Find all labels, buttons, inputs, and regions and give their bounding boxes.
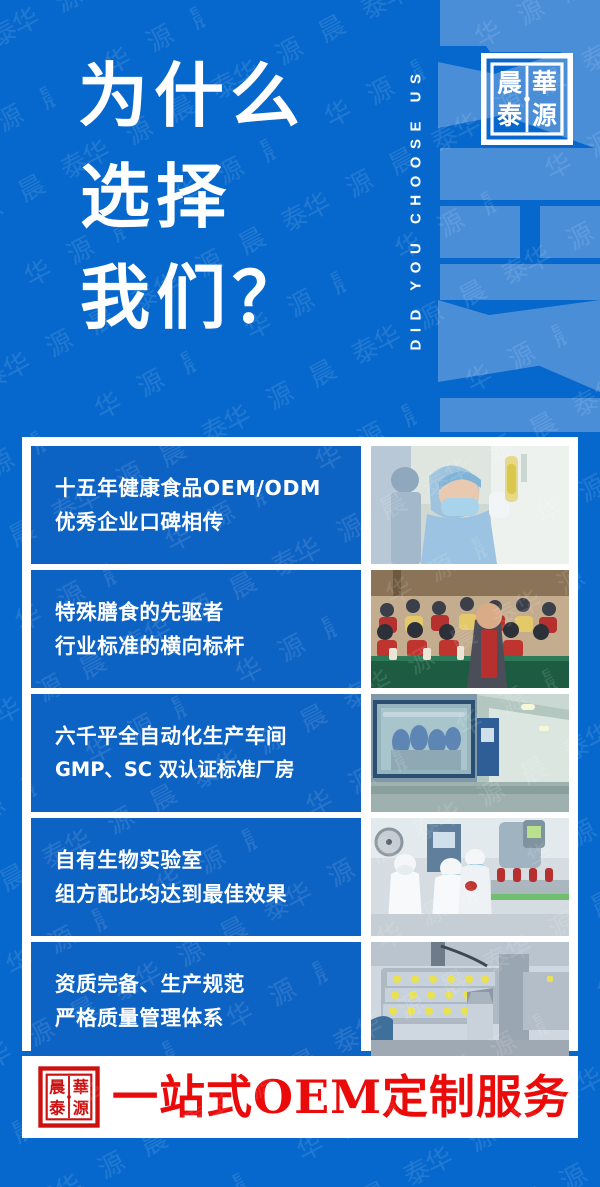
feature-2-line-1: 特殊膳食的先驱者 bbox=[55, 595, 361, 629]
feature-4-line-2: 组方配比均达到最佳效果 bbox=[55, 877, 361, 911]
bottom-cta-banner[interactable]: 華 源 晨 泰 一站式OEM定制服务 bbox=[22, 1056, 578, 1138]
promo-poster: 为什么 选择 我们？ DID YOU CHOOSE US 華 源 晨 泰 bbox=[0, 0, 600, 1187]
vertical-tagline: DID YOU CHOOSE US bbox=[396, 8, 436, 408]
company-seal-logo: 華 源 晨 泰 bbox=[481, 53, 573, 145]
feature-row: 特殊膳食的先驱者 行业标准的横向标杆 bbox=[31, 570, 569, 688]
feature-photo-1 bbox=[371, 446, 569, 564]
svg-text:泰: 泰 bbox=[48, 1099, 66, 1118]
feature-card-4[interactable]: 自有生物实验室 组方配比均达到最佳效果 bbox=[31, 818, 361, 936]
svg-text:晨: 晨 bbox=[49, 1078, 66, 1097]
features-panel: 十五年健康食品OEM/ODM 优秀企业口碑相传 bbox=[22, 437, 578, 1051]
svg-text:源: 源 bbox=[73, 1099, 89, 1118]
feature-card-3[interactable]: 六千平全自动化生产车间 GMP、SC 双认证标准厂房 bbox=[31, 694, 361, 812]
feature-row: 十五年健康食品OEM/ODM 优秀企业口碑相传 bbox=[31, 446, 569, 564]
title-line-3: 我们？ bbox=[78, 248, 408, 349]
feature-card-2[interactable]: 特殊膳食的先驱者 行业标准的横向标杆 bbox=[31, 570, 361, 688]
svg-text:泰: 泰 bbox=[497, 101, 522, 130]
company-seal-logo-red: 華 源 晨 泰 bbox=[38, 1066, 100, 1128]
title-line-1: 为什么 bbox=[78, 46, 408, 147]
feature-row: 资质完备、生产规范 严格质量管理体系 bbox=[31, 942, 569, 1060]
feature-row: 六千平全自动化生产车间 GMP、SC 双认证标准厂房 bbox=[31, 694, 569, 812]
feature-3-line-1: 六千平全自动化生产车间 bbox=[55, 719, 361, 753]
feature-5-line-1: 资质完备、生产规范 bbox=[55, 967, 361, 1001]
cta-text: 一站式OEM定制服务 bbox=[112, 1074, 570, 1120]
feature-1-line-2: 优秀企业口碑相传 bbox=[55, 505, 361, 539]
feature-photo-3 bbox=[371, 694, 569, 812]
feature-photo-5 bbox=[371, 942, 569, 1060]
feature-photo-4 bbox=[371, 818, 569, 936]
feature-3-line-2: GMP、SC 双认证标准厂房 bbox=[55, 753, 361, 787]
vertical-tagline-text: DID YOU CHOOSE US bbox=[408, 66, 425, 350]
svg-text:晨: 晨 bbox=[497, 69, 522, 98]
feature-1-line-1: 十五年健康食品OEM/ODM bbox=[55, 471, 361, 505]
feature-5-line-2: 严格质量管理体系 bbox=[55, 1001, 361, 1035]
feature-row: 自有生物实验室 组方配比均达到最佳效果 bbox=[31, 818, 569, 936]
svg-text:華: 華 bbox=[73, 1078, 89, 1097]
title-line-2: 选择 bbox=[78, 147, 408, 248]
feature-2-line-2: 行业标准的横向标杆 bbox=[55, 629, 361, 663]
page-title: 为什么 选择 我们？ bbox=[78, 46, 408, 349]
feature-card-5[interactable]: 资质完备、生产规范 严格质量管理体系 bbox=[31, 942, 361, 1060]
svg-text:華: 華 bbox=[532, 69, 557, 98]
feature-card-1[interactable]: 十五年健康食品OEM/ODM 优秀企业口碑相传 bbox=[31, 446, 361, 564]
svg-text:源: 源 bbox=[532, 101, 557, 130]
feature-4-line-1: 自有生物实验室 bbox=[55, 843, 361, 877]
feature-photo-2 bbox=[371, 570, 569, 688]
